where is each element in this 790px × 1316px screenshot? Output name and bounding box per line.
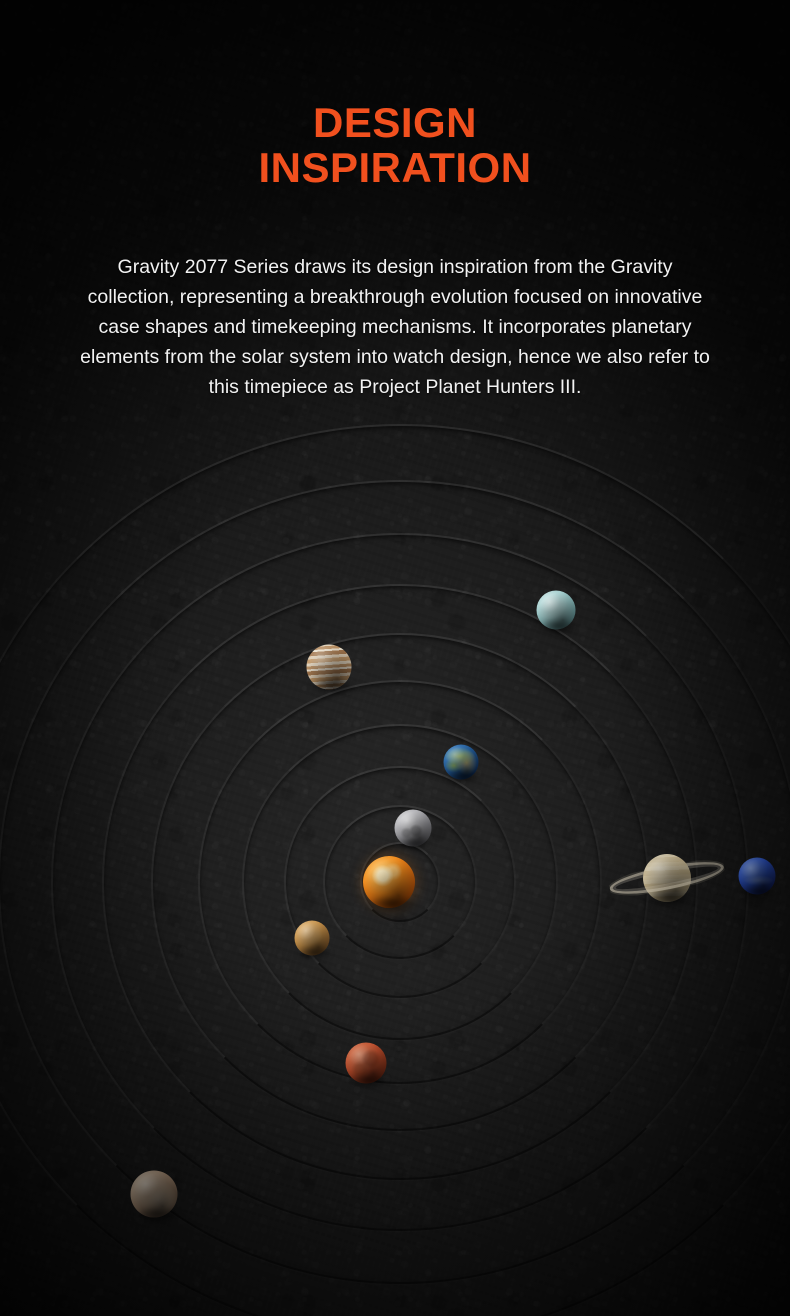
planet-mercury xyxy=(395,810,432,847)
planet-shading xyxy=(295,921,330,956)
planet-neptune xyxy=(739,858,776,895)
planet-saturn-group xyxy=(643,854,691,902)
page-title-line-2: INSPIRATION xyxy=(0,145,790,190)
planet-shading xyxy=(346,1043,387,1084)
planet-venus xyxy=(295,921,330,956)
planet-shading xyxy=(131,1171,178,1218)
planet-shading xyxy=(444,745,479,780)
planet-uranus xyxy=(537,591,576,630)
planet-jupiter xyxy=(307,645,352,690)
planet-mars xyxy=(346,1043,387,1084)
page-title-line-1: DESIGN xyxy=(313,99,477,146)
orbit-grooves xyxy=(0,0,790,1316)
description-paragraph: Gravity 2077 Series draws its design ins… xyxy=(75,252,715,402)
planet-earth xyxy=(444,745,479,780)
planet-shading xyxy=(739,858,776,895)
planet-shading xyxy=(307,645,352,690)
design-inspiration-page: DESIGN INSPIRATION Gravity 2077 Series d… xyxy=(0,0,790,1316)
planet-shading xyxy=(363,856,415,908)
page-title: DESIGN INSPIRATION xyxy=(0,100,790,191)
planet-shading xyxy=(537,591,576,630)
planet-shading xyxy=(395,810,432,847)
page-header: DESIGN INSPIRATION xyxy=(0,100,790,191)
planet-pluto xyxy=(131,1171,178,1218)
planet-sun xyxy=(363,856,415,908)
